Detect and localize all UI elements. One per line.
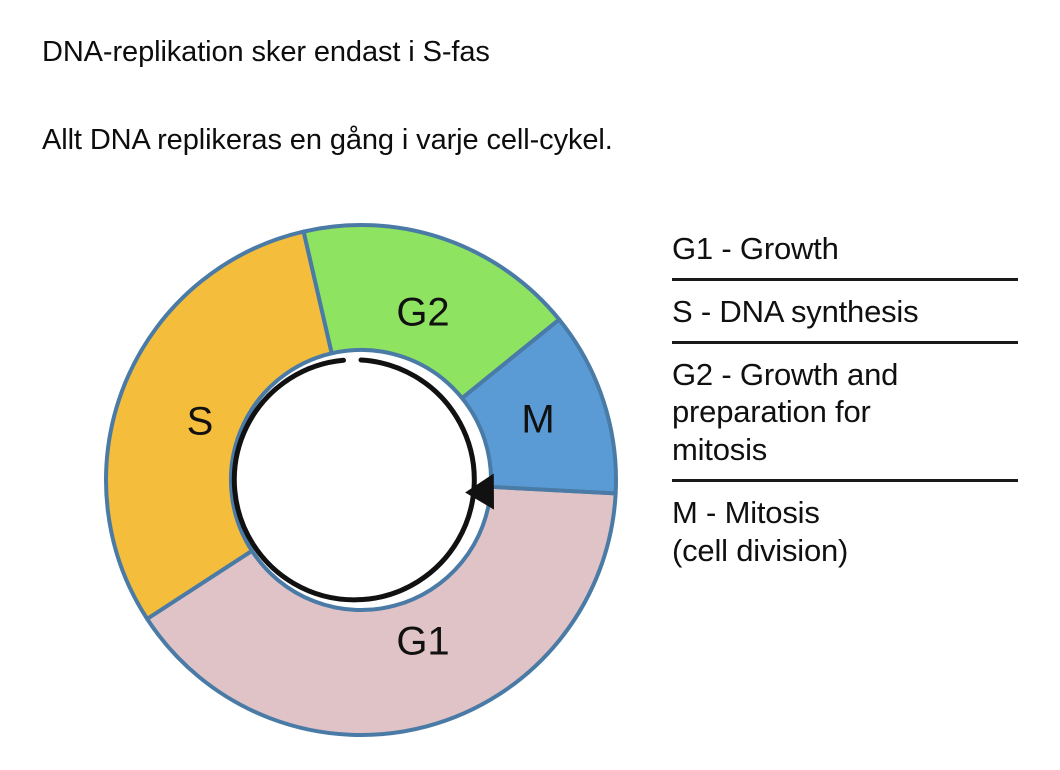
legend: G1 - Growth S - DNA synthesis G2 - Growt…	[672, 228, 1018, 580]
segment-label-g2: G2	[396, 291, 449, 335]
legend-item-m[interactable]: M - Mitosis (cell division)	[672, 479, 1018, 580]
legend-line: G2 - Growth and	[672, 356, 1018, 394]
slide-canvas: DNA-replikation sker endast i S-fas Allt…	[0, 0, 1060, 770]
legend-item-g1[interactable]: G1 - Growth	[672, 228, 1018, 278]
segment-label-g1: G1	[396, 620, 449, 664]
legend-line: S - DNA synthesis	[672, 293, 1018, 331]
segment-label-s: S	[187, 400, 214, 444]
legend-line: mitosis	[672, 431, 1018, 469]
legend-line: (cell division)	[672, 532, 1018, 570]
segment-label-m: M	[521, 398, 554, 442]
legend-item-g2[interactable]: G2 - Growth and preparation for mitosis	[672, 341, 1018, 479]
cell-cycle-diagram: G2MSG1	[90, 200, 650, 760]
legend-line: preparation for	[672, 393, 1018, 431]
legend-item-s[interactable]: S - DNA synthesis	[672, 278, 1018, 341]
legend-line: M - Mitosis	[672, 494, 1018, 532]
legend-line: G1 - Growth	[672, 230, 1018, 268]
donut-chart-svg: G2MSG1	[90, 200, 650, 760]
page-subtitle: Allt DNA replikeras en gång i varje cell…	[42, 124, 613, 157]
page-title: DNA-replikation sker endast i S-fas	[42, 36, 490, 69]
